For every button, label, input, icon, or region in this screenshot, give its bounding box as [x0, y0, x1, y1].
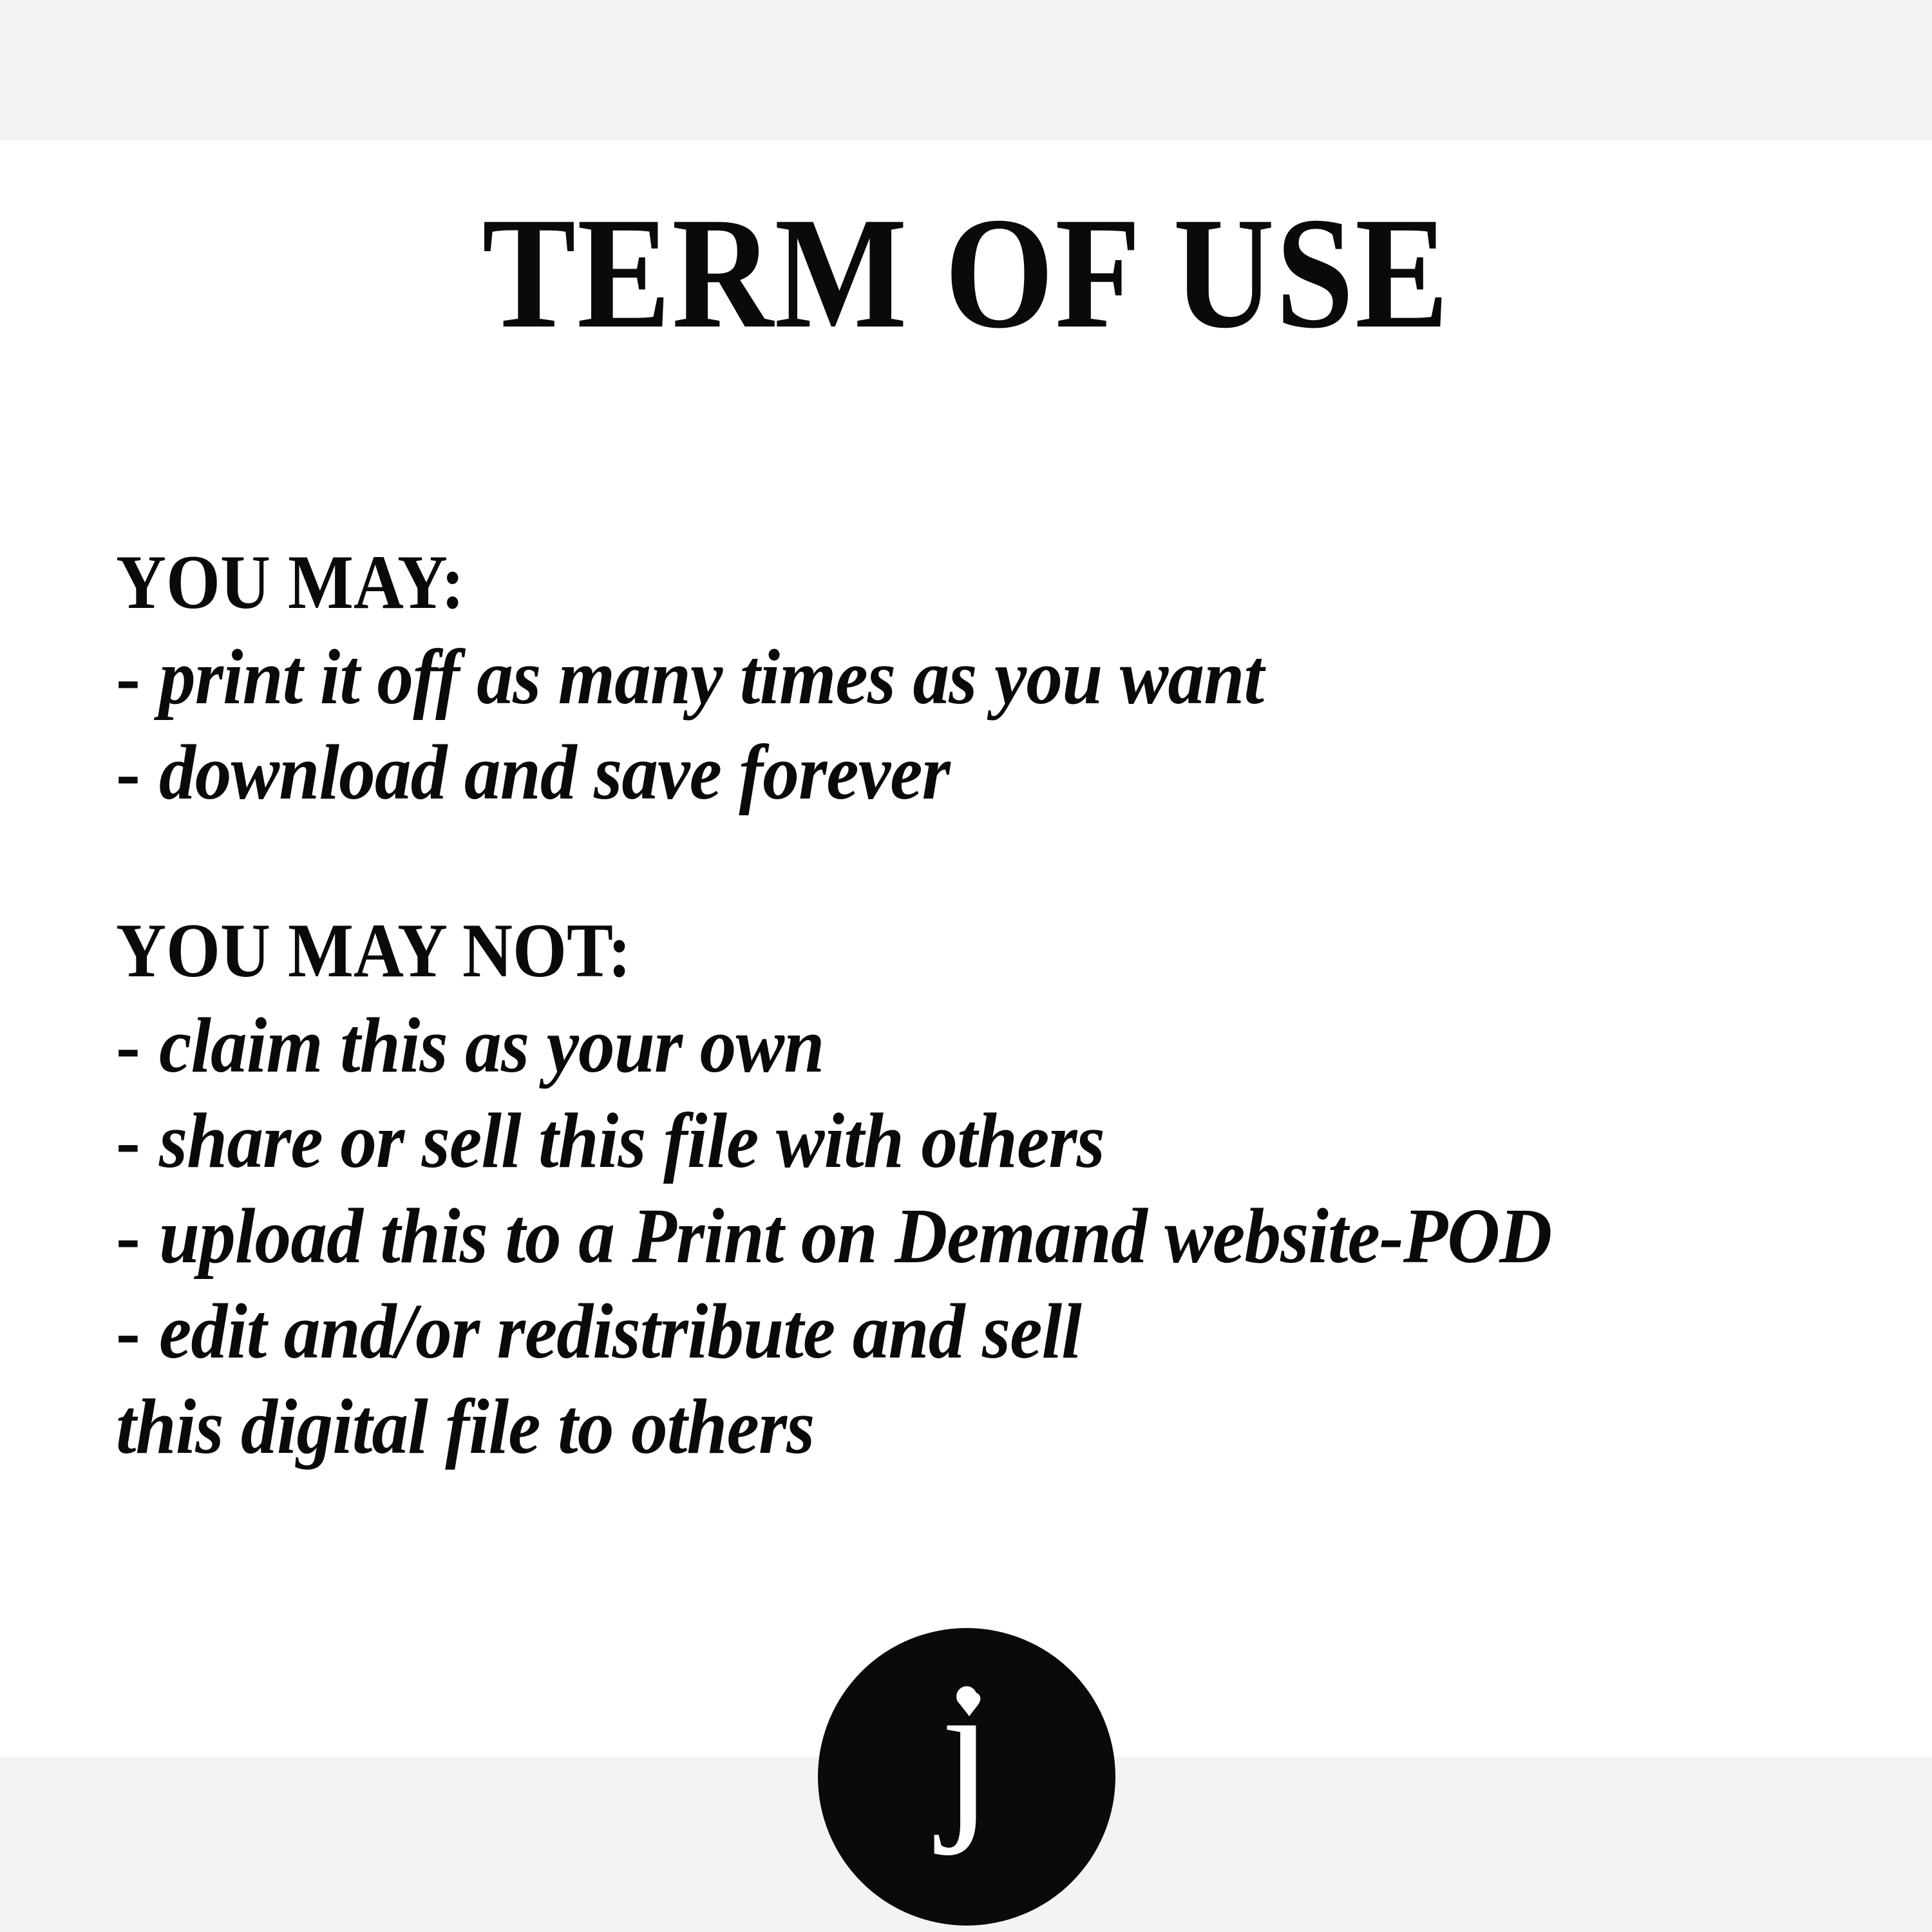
section-heading-you-may: YOU MAY:: [116, 541, 1716, 623]
list-item: -share or sell this file with others: [116, 1094, 1769, 1189]
bullet-dash: -: [116, 725, 159, 820]
bullet-dash: -: [116, 1189, 159, 1284]
list-item: -download and save forever: [116, 725, 1769, 820]
bullet-dash: -: [116, 1094, 159, 1189]
top-decorative-band: [0, 0, 1932, 140]
list-item-text: edit and/or redistribute and sell: [159, 1288, 1081, 1375]
section-you-may-not: YOU MAY NOT: -claim this as your own -sh…: [116, 909, 1893, 1475]
list-item: -claim this as your own: [116, 998, 1769, 1094]
list-item: -edit and/or redistribute and sell: [116, 1284, 1769, 1379]
list-item-text: upload this to a Print on Demand website…: [159, 1193, 1551, 1280]
section-you-may: YOU MAY: -print it off as many times as …: [116, 541, 1893, 820]
bullet-dash: -: [116, 998, 159, 1094]
bullet-dash: -: [116, 1284, 159, 1379]
section-heading-you-may-not: YOU MAY NOT:: [116, 909, 1716, 992]
bullet-dash: -: [116, 630, 159, 725]
terms-of-use-page: TERM OF USE YOU MAY: -print it off as ma…: [0, 0, 1932, 1932]
list-item: -upload this to a Print on Demand websit…: [116, 1189, 1769, 1284]
list-item-continuation: this digital file to others: [116, 1379, 1769, 1475]
brand-logo: j: [818, 1628, 1115, 1926]
list-item-text: share or sell this file with others: [159, 1097, 1104, 1184]
you-may-not-list: -claim this as your own -share or sell t…: [116, 998, 1893, 1379]
list-item-text: download and save forever: [159, 729, 950, 816]
list-item-text: print it off as many times as you want: [159, 634, 1264, 721]
you-may-list: -print it off as many times as you want …: [116, 630, 1893, 820]
page-title: TERM OF USE: [116, 193, 1816, 353]
list-item-text: claim this as your own: [159, 1002, 824, 1089]
terms-body: YOU MAY: -print it off as many times as …: [116, 541, 1893, 1475]
heart-icon: [954, 1690, 984, 1717]
list-item: -print it off as many times as you want: [116, 630, 1769, 725]
logo-letter-j: j: [818, 1653, 1115, 1846]
